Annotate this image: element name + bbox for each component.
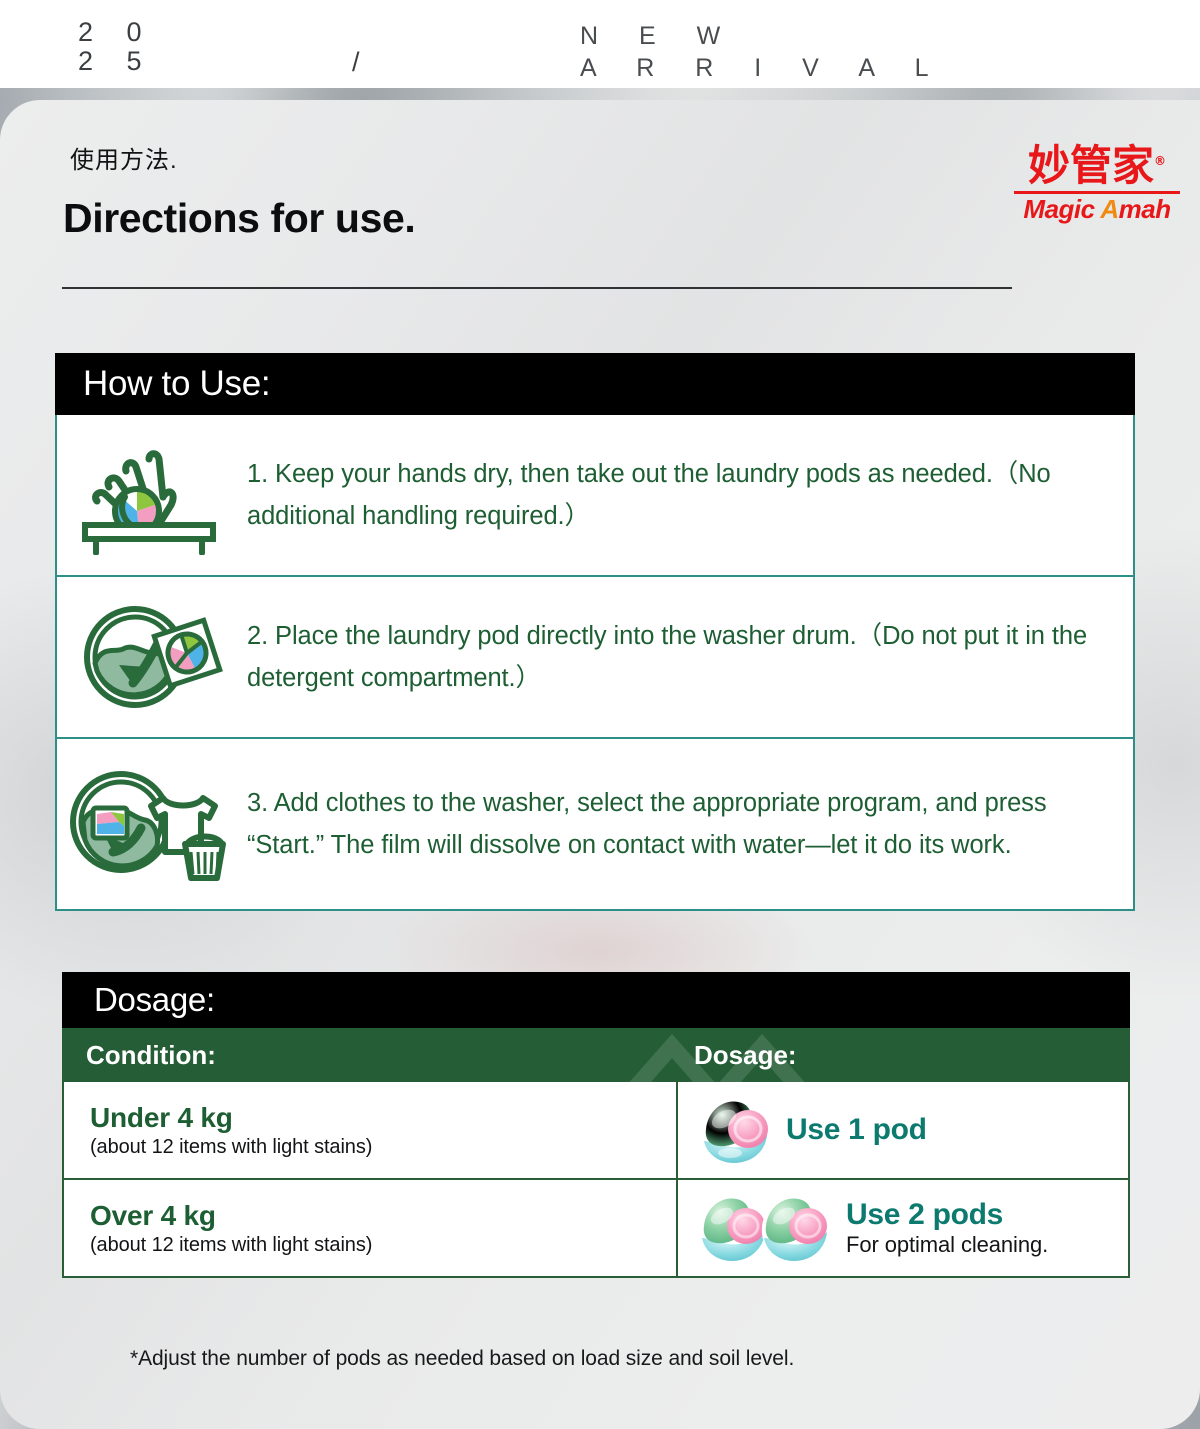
dosage-footnote: *Adjust the number of pods as needed bas… xyxy=(130,1347,794,1371)
new-arrival-label: N E W A R R I V A L xyxy=(580,20,946,84)
washer-drum-with-pod-icon xyxy=(57,597,247,717)
dosage-amount-cell: Use 1 pod xyxy=(678,1082,1128,1178)
how-to-use-step-text: 2. Place the laundry pod directly into t… xyxy=(247,615,1133,699)
dosage-condition-cell: Under 4 kg (about 12 items with light st… xyxy=(64,1082,678,1178)
washer-clothes-basket-icon xyxy=(57,764,247,884)
double-laundry-pod-icon xyxy=(694,1188,836,1268)
dosage-text-group: Use 1 pod xyxy=(786,1113,927,1147)
dosage-amount-cell: Use 2 pods For optimal cleaning. xyxy=(678,1180,1128,1276)
how-to-use-steps: 1. Keep your hands dry, then take out th… xyxy=(55,415,1135,911)
top-header-strip: 2 0 2 5 / N E W A R R I V A L xyxy=(0,0,1200,100)
directions-card: 使用方法. Directions for use. 妙管家® Magic Ama… xyxy=(0,100,1200,1429)
table-row: Over 4 kg (about 12 items with light sta… xyxy=(62,1180,1130,1278)
condition-detail: (about 12 items with light stains) xyxy=(90,1136,676,1159)
brand-logo-english-text: Magic Amah xyxy=(1012,195,1182,223)
condition-detail: (about 12 items with light stains) xyxy=(90,1234,676,1257)
page-title-chinese: 使用方法. xyxy=(70,140,178,175)
brand-logo: 妙管家® Magic Amah xyxy=(1012,138,1182,223)
how-to-use-header: How to Use: xyxy=(55,353,1135,415)
dosage-column-headers: Condition: Dosage: xyxy=(62,1028,1130,1082)
single-laundry-pod-icon xyxy=(694,1091,776,1169)
registered-trademark-icon: ® xyxy=(1154,154,1166,168)
new-arrival-line-2: A R R I V A L xyxy=(580,52,946,84)
new-arrival-line-1: N E W xyxy=(580,20,946,52)
year-line-2: 2 5 xyxy=(78,47,155,76)
condition-weight: Under 4 kg xyxy=(90,1102,676,1134)
how-to-use-step: 2. Place the laundry pod directly into t… xyxy=(57,577,1133,739)
dosage-heading: Dosage: xyxy=(94,981,215,1019)
how-to-use-step-text: 3. Add clothes to the washer, select the… xyxy=(247,782,1133,866)
dosage-amount: Use 2 pods xyxy=(846,1198,1048,1232)
how-to-use-step: 1. Keep your hands dry, then take out th… xyxy=(57,415,1133,577)
how-to-use-section: How to Use: xyxy=(55,353,1135,911)
dosage-amount: Use 1 pod xyxy=(786,1113,927,1147)
how-to-use-step: 3. Add clothes to the washer, select the… xyxy=(57,739,1133,909)
year-label: 2 0 2 5 xyxy=(78,18,155,76)
separator-slash: / xyxy=(352,47,360,78)
condition-weight: Over 4 kg xyxy=(90,1200,676,1232)
dosage-col-condition: Condition: xyxy=(62,1028,676,1082)
title-divider xyxy=(62,287,1012,289)
how-to-use-heading: How to Use: xyxy=(83,364,270,404)
dosage-section: Dosage: Condition: Dosage: Under 4 kg (a… xyxy=(62,972,1130,1278)
year-line-1: 2 0 xyxy=(78,18,155,47)
dosage-condition-cell: Over 4 kg (about 12 items with light sta… xyxy=(64,1180,678,1276)
brand-logo-chinese-text: 妙管家® xyxy=(1012,138,1182,189)
table-row: Under 4 kg (about 12 items with light st… xyxy=(62,1082,1130,1180)
dosage-header: Dosage: xyxy=(62,972,1130,1028)
how-to-use-step-text: 1. Keep your hands dry, then take out th… xyxy=(247,453,1133,537)
dosage-col-dosage: Dosage: xyxy=(676,1028,1130,1082)
dosage-note: For optimal cleaning. xyxy=(846,1232,1048,1258)
page-title: Directions for use. xyxy=(63,195,415,242)
dosage-text-group: Use 2 pods For optimal cleaning. xyxy=(846,1198,1048,1258)
hand-taking-pod-from-table-icon xyxy=(57,435,247,555)
